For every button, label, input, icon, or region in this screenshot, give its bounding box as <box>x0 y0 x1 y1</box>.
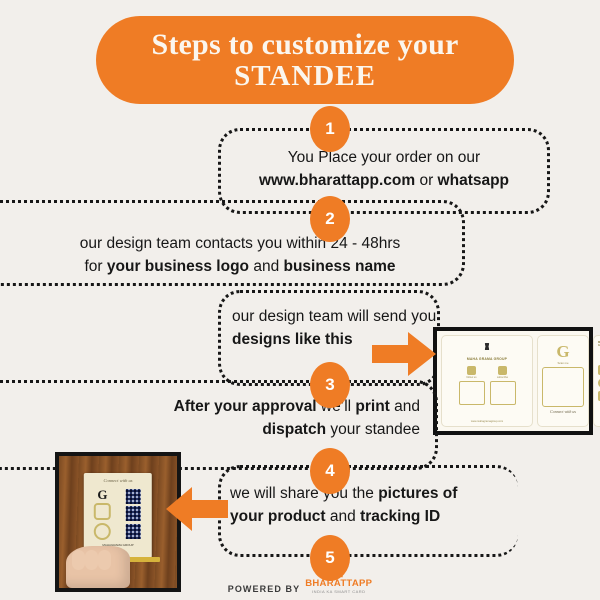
step-2-l2-s1: for <box>85 258 107 275</box>
header-line-2: STANDEE <box>151 61 458 91</box>
youtube-icon <box>498 366 507 375</box>
step-5-l2-s2: and <box>326 508 360 525</box>
standee-qr-column <box>120 487 147 541</box>
step-badge-2: 2 <box>310 196 350 242</box>
step-5-line-2: your product and tracking ID <box>230 505 520 528</box>
step-4-line-1: After your approval we’ll print and <box>60 395 420 418</box>
step-text-1: You Place your order on our www.bharatta… <box>222 146 546 193</box>
step-1-line-2: www.bharattapp.com or whatsapp <box>222 169 546 192</box>
step-3-line-1: our design team will send you <box>232 305 447 328</box>
mockup-google-qr-box <box>542 367 584 407</box>
step-1-l2-s3: whatsapp <box>438 172 509 189</box>
design-mockup-image: MAHA GRAMA GROUP follow us subscribe www… <box>433 327 593 435</box>
youtube-qr-box <box>490 381 516 405</box>
footer-tagline: INDIA KA SMART CARD <box>312 589 366 594</box>
footer-brand-name: BHARATTAPP <box>305 579 372 589</box>
step-4-l1-s3: print <box>355 398 389 415</box>
arrow-left-icon <box>166 487 228 531</box>
step-1-l2-s1: www.bharattapp.com <box>259 172 415 189</box>
mockup-inner: MAHA GRAMA GROUP follow us subscribe www… <box>437 331 589 431</box>
step-badge-1: 1 <box>310 106 350 152</box>
step-4-l1-s4: and <box>390 398 420 415</box>
step-4-l2-s1: dispatch <box>262 421 326 438</box>
step-2-line-2: for your business logo and business name <box>20 255 460 278</box>
step-text-5: we will share you the pictures of your p… <box>230 482 520 529</box>
step-badge-4: 4 <box>310 448 350 494</box>
header-line-1: Steps to customize your <box>151 28 458 61</box>
mockup-website: www.mahagramagroup.com <box>442 420 532 423</box>
wings-logo-icon <box>470 342 504 356</box>
youtube-icon-wrap: subscribe <box>490 366 516 405</box>
step-badge-5-label: 5 <box>325 548 334 568</box>
facebook-icon-wrap: follow us <box>459 366 485 405</box>
step-badge-5: 5 <box>310 535 350 581</box>
step-5-l2-s3: tracking ID <box>360 508 440 525</box>
step-5-l1-s1: we will share you the <box>230 485 378 502</box>
step-badge-1-label: 1 <box>325 119 334 139</box>
header-banner: Steps to customize your STANDEE <box>96 16 514 104</box>
step-5-l1-s2: pictures of <box>378 485 457 502</box>
step-3-l2-s1: designs like this <box>232 331 353 348</box>
step-text-4: After your approval we’ll print and disp… <box>60 395 420 442</box>
footer-powered-by: POWERED BY <box>228 584 301 594</box>
mockup-scan-caption: Scan me <box>542 361 584 365</box>
infographic-canvas: Steps to customize your STANDEE 1 You Pl… <box>0 0 600 600</box>
facebook-icon <box>467 366 476 375</box>
facebook-qr-box <box>459 381 485 405</box>
qr-code-instagram <box>126 506 141 521</box>
step-badge-2-label: 2 <box>325 209 334 229</box>
mockup-card-google: G Scan me Connect with us <box>537 335 589 427</box>
mockup-social-row: follow us subscribe <box>447 366 527 405</box>
step-2-l2-s2: your business logo <box>107 258 249 275</box>
instagram-icon-photo <box>94 503 111 520</box>
step-text-2: our design team contacts you within 24 -… <box>20 232 460 279</box>
step-badge-3: 3 <box>310 362 350 408</box>
step-3-l1-s1: our design team will send you <box>232 308 436 325</box>
step-2-line-1: our design team contacts you within 24 -… <box>20 232 460 255</box>
whatsapp-icon-photo <box>94 523 111 540</box>
step-badge-3-label: 3 <box>325 375 334 395</box>
mockup-brand-name: MAHA GRAMA GROUP <box>447 357 527 361</box>
footer: POWERED BY दी BHARATTAPP INDIA KA SMART … <box>0 567 600 594</box>
step-2-l2-s4: business name <box>284 258 396 275</box>
qr-code-whatsapp <box>126 524 141 539</box>
page-title: Steps to customize your STANDEE <box>137 29 472 91</box>
step-4-l1-s1: After your approval <box>174 398 317 415</box>
step-2-l2-s3: and <box>249 258 283 275</box>
step-4-l2-s2: your standee <box>326 421 420 438</box>
step-badge-4-label: 4 <box>325 461 334 481</box>
standee-product: Connect with us G MAHAGRAMA GROUP <box>84 473 152 557</box>
google-g-icon: G <box>542 343 584 360</box>
mockup-card-right: MAHA GRAMA GROUP Connect with us <box>593 335 600 427</box>
step-1-l1-s1: You Place your order on our <box>288 149 480 166</box>
standee-icon-column: G <box>89 487 116 541</box>
step-2-l1-s1: our design team contacts you within 24 -… <box>80 235 401 252</box>
standee-script-text: Connect with us <box>89 478 147 483</box>
google-g-icon-photo: G <box>97 488 107 501</box>
arrow-right-icon <box>372 332 436 376</box>
step-5-line-1: we will share you the pictures of <box>230 482 520 505</box>
mockup-card-left: MAHA GRAMA GROUP follow us subscribe www… <box>441 335 533 427</box>
step-1-line-1: You Place your order on our <box>222 146 546 169</box>
facebook-caption: follow us <box>459 376 485 379</box>
step-5-l2-s1: your product <box>230 508 326 525</box>
qr-code-google <box>126 489 141 504</box>
step-4-line-2: dispatch your standee <box>60 418 420 441</box>
mockup-script-text: Connect with us <box>542 409 584 414</box>
standee-grid: G <box>89 487 147 541</box>
youtube-caption: subscribe <box>490 376 516 379</box>
step-1-l2-s2: or <box>415 172 437 189</box>
